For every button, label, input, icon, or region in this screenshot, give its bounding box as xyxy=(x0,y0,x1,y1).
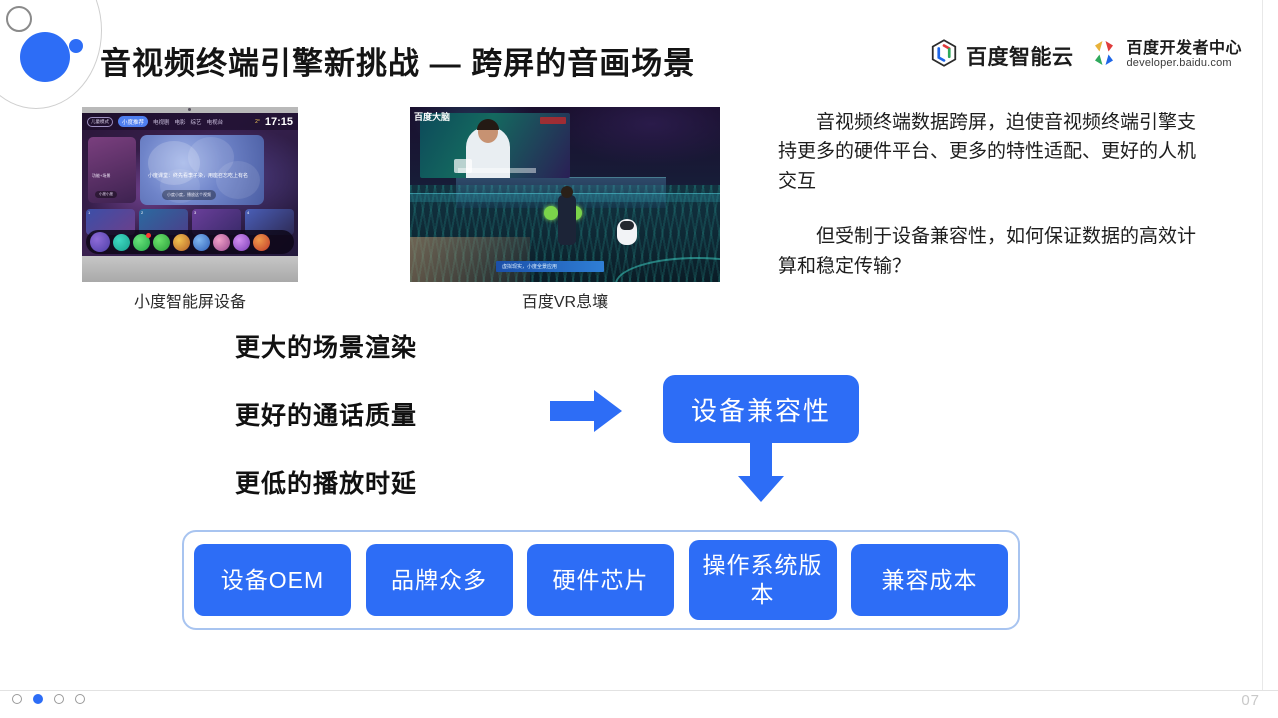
decorative-large-blue-dot-icon xyxy=(20,32,70,82)
vr-screen-label: 百度大脑 xyxy=(414,110,450,123)
factor-box-device-oem[interactable]: 设备OEM xyxy=(194,544,351,616)
nav-tab-movie: 电影 xyxy=(175,118,186,126)
vr-avatar-head xyxy=(561,186,573,198)
app-dock xyxy=(86,230,294,254)
caption-xiaodu-smart-display: 小度智能屏设备 xyxy=(82,288,298,312)
thumbnail-index: 1 xyxy=(88,210,90,215)
app-icon-green xyxy=(153,234,170,251)
pagination-dot-1[interactable] xyxy=(12,694,22,704)
slide-pagination-dots[interactable] xyxy=(12,694,85,704)
pagination-dot-2[interactable] xyxy=(33,694,43,704)
clock-readout: 17:15 xyxy=(265,116,293,128)
pagination-dot-3[interactable] xyxy=(54,694,64,704)
arrow-right-icon xyxy=(550,390,622,432)
baidu-developer-logo: 百度开发者中心 developer.baidu.com xyxy=(1089,38,1242,73)
footer-divider xyxy=(0,690,1278,691)
nav-tab-recommend: 小度推荐 xyxy=(118,116,148,127)
presenter-hair xyxy=(477,119,499,130)
side-card-text: 功能+场景 xyxy=(92,173,132,179)
vr-subtitle-text: 虚拟现实，小度全景应用 xyxy=(502,263,557,270)
vr-robot-face xyxy=(620,221,634,230)
description-paragraph-1: 音视频终端数据跨屏，迫使音视频终端引擎支持更多的硬件平台、更多的特性适配、更好的… xyxy=(778,108,1196,196)
voice-hint-pill: 小度小度，播放这个视频 xyxy=(162,190,216,200)
screenshot-xiaodu-smart-display: 小度课堂：终先看李子染，用座召忘吃上有名 小度小度，播放这个视频 功能+场景 小… xyxy=(82,107,298,282)
featured-card-text: 小度课堂：终先看李子染，用座召忘吃上有名 xyxy=(148,173,256,181)
decorative-ring-circle-icon xyxy=(6,6,32,32)
caption-baidu-vr-xirang: 百度VR息壤 xyxy=(410,288,720,312)
right-edge-divider xyxy=(1262,0,1263,690)
baidu-developer-logo-url: developer.baidu.com xyxy=(1126,58,1242,70)
baidu-developer-pinwheel-icon xyxy=(1089,38,1119,73)
kid-mode-badge: 儿童模式 xyxy=(87,117,113,127)
bullet-scene-rendering: 更大的场景渲染 xyxy=(235,328,417,364)
nav-tab-tvseries: 电视剧 xyxy=(153,118,170,126)
factor-box-hardware-chip[interactable]: 硬件芯片 xyxy=(527,544,674,616)
nav-tab-variety: 综艺 xyxy=(191,118,202,126)
arrow-down-icon xyxy=(738,440,784,502)
app-icon-teal xyxy=(113,234,130,251)
factor-box-compat-cost[interactable]: 兼容成本 xyxy=(851,544,1008,616)
vr-sand-area xyxy=(410,237,530,282)
nav-tab-tvstation: 电视台 xyxy=(207,118,224,126)
app-icon-assistant xyxy=(90,232,110,252)
thumbnail-index: 4 xyxy=(247,210,249,215)
baidu-developer-logo-title: 百度开发者中心 xyxy=(1126,41,1242,58)
factor-box-os-version[interactable]: 操作系统版本 xyxy=(689,540,837,620)
featured-content-card: 小度课堂：终先看李子染，用座召忘吃上有名 小度小度，播放这个视频 xyxy=(140,135,264,205)
smart-display-screen: 小度课堂：终先看李子染，用座召忘吃上有名 小度小度，播放这个视频 功能+场景 小… xyxy=(82,113,298,256)
notification-badge xyxy=(146,233,151,238)
app-icon-purple xyxy=(233,234,250,251)
app-icon-phone xyxy=(133,234,150,251)
screenshot-baidu-vr-xirang: 百度大脑 虚拟现实，小度全景应用 xyxy=(410,107,720,282)
compatibility-factors-group: 设备OEM 品牌众多 硬件芯片 操作系统版本 兼容成本 xyxy=(182,530,1020,630)
thumbnail-index: 3 xyxy=(194,210,196,215)
thumbnail-index: 2 xyxy=(141,210,143,215)
description-paragraph-2: 但受制于设备兼容性，如何保证数据的高效计算和稳定传输？ xyxy=(778,222,1196,281)
screen-subtitle-strip xyxy=(458,168,536,173)
slide-canvas: 音视频终端引擎新挑战 — 跨屏的音画场景 百度智能云 xyxy=(0,0,1278,718)
vr-avatar-body xyxy=(558,195,576,245)
page-number: 07 xyxy=(1241,692,1260,709)
app-icon-orange xyxy=(253,234,270,251)
baidu-cloud-logo: 百度智能云 xyxy=(929,38,1074,73)
device-stand xyxy=(82,256,298,282)
bullet-call-quality: 更好的通话质量 xyxy=(235,396,417,432)
screen-top-navbar: 儿童模式 小度推荐 电视剧 电影 综艺 电视台 2° 17:15 xyxy=(82,113,298,130)
app-icon-blue xyxy=(193,234,210,251)
device-camera-dot-icon xyxy=(188,108,191,111)
bullet-playback-latency: 更低的播放时延 xyxy=(235,464,417,500)
app-icon-shop xyxy=(173,234,190,251)
weather-readout: 2° xyxy=(255,119,260,125)
factor-box-many-brands[interactable]: 品牌众多 xyxy=(366,544,513,616)
page-title: 音视频终端引擎新挑战 — 跨屏的音画场景 xyxy=(100,38,695,83)
description-text-block: 音视频终端数据跨屏，迫使音视频终端引擎支持更多的硬件平台、更多的特性适配、更好的… xyxy=(778,108,1196,307)
baidu-cloud-logo-icon xyxy=(929,38,959,73)
logo-group: 百度智能云 百度开发者中心 developer.baidu.com xyxy=(929,38,1242,73)
screen-corner-tag xyxy=(540,117,566,124)
baidu-cloud-logo-text: 百度智能云 xyxy=(966,41,1074,71)
app-icon-pink xyxy=(213,234,230,251)
side-card-pill: 小度小度 xyxy=(95,191,117,198)
pagination-dot-4[interactable] xyxy=(75,694,85,704)
vr-gear-icon xyxy=(544,206,558,220)
side-content-card: 功能+场景 小度小度 xyxy=(88,137,136,203)
challenge-bullet-list: 更大的场景渲染 更好的通话质量 更低的播放时延 xyxy=(235,328,417,532)
device-compatibility-pill: 设备兼容性 xyxy=(663,375,859,443)
decorative-small-blue-dot-icon xyxy=(69,39,83,53)
